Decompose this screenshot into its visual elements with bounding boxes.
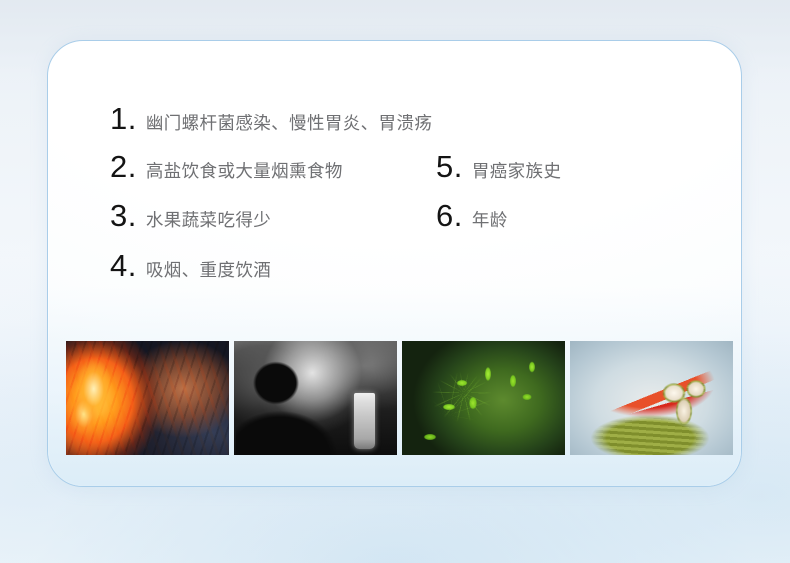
risk-item-label: 年龄 xyxy=(472,212,508,230)
risk-factors-card: 1. 幽门螺杆菌感染、慢性胃炎、胃溃疡 2. 高盐饮食或大量烟熏食物 3. 水果… xyxy=(47,40,742,487)
risk-item-label: 高盐饮食或大量烟熏食物 xyxy=(146,163,343,181)
risk-item-1: 1. 幽门螺杆菌感染、慢性胃炎、胃溃疡 xyxy=(110,103,432,134)
pickled-chili-peppers-and-vegetables-photo xyxy=(570,341,733,455)
risk-item-number: 5. xyxy=(436,151,463,182)
risk-item-number: 1. xyxy=(110,103,137,134)
risk-item-label: 胃癌家族史 xyxy=(472,163,562,181)
risk-item-number: 2. xyxy=(110,151,137,182)
risk-item-4: 4. 吸烟、重度饮酒 xyxy=(110,250,271,281)
risk-item-5: 5. 胃癌家族史 xyxy=(436,151,561,182)
risk-item-3: 3. 水果蔬菜吃得少 xyxy=(110,200,271,231)
risk-item-2: 2. 高盐饮食或大量烟熏食物 xyxy=(110,151,343,182)
risk-item-label: 水果蔬菜吃得少 xyxy=(146,212,271,230)
helicobacter-pylori-bacteria-micrograph-photo xyxy=(402,341,565,455)
risk-item-number: 4. xyxy=(110,250,137,281)
black-and-white-smoking-and-drinking-photo xyxy=(234,341,397,455)
risk-item-number: 3. xyxy=(110,200,137,231)
risk-item-label: 幽门螺杆菌感染、慢性胃炎、胃溃疡 xyxy=(146,115,432,133)
grilled-meat-over-flames-photo xyxy=(66,341,229,455)
photo-strip xyxy=(66,341,727,455)
risk-factor-list: 1. 幽门螺杆菌感染、慢性胃炎、胃溃疡 2. 高盐饮食或大量烟熏食物 3. 水果… xyxy=(48,41,742,311)
risk-item-6: 6. 年龄 xyxy=(436,200,508,231)
risk-item-label: 吸烟、重度饮酒 xyxy=(146,262,271,280)
page-background: 1. 幽门螺杆菌感染、慢性胃炎、胃溃疡 2. 高盐饮食或大量烟熏食物 3. 水果… xyxy=(0,0,790,563)
risk-item-number: 6. xyxy=(436,200,463,231)
